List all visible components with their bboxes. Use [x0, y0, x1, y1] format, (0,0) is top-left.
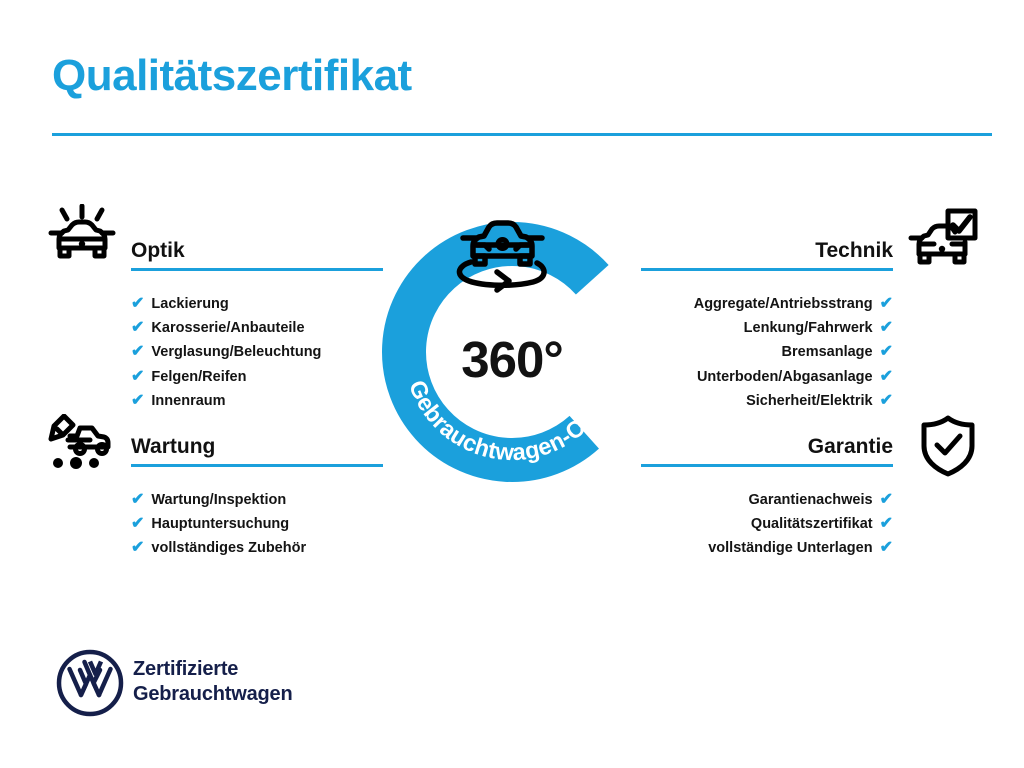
- check-icon: ✔: [880, 389, 893, 413]
- check-icon: ✔: [880, 365, 893, 389]
- section-technik-header: Technik: [641, 238, 893, 280]
- section-technik-title: Technik: [641, 238, 893, 264]
- check-icon: ✔: [880, 536, 893, 560]
- list-item-label: Qualitätszertifikat: [751, 512, 873, 536]
- vw-roundel-logo: [56, 649, 124, 722]
- list-item: Aggregate/Antriebsstrang✔: [641, 292, 893, 316]
- section-wartung-list: ✔Wartung/Inspektion ✔Hauptuntersuchung ✔…: [131, 488, 383, 561]
- list-item-label: Felgen/Reifen: [151, 365, 246, 389]
- check-icon: ✔: [131, 365, 144, 389]
- list-item: ✔Hauptuntersuchung: [131, 512, 383, 536]
- vw-wordmark-line1: Zertifizierte: [133, 657, 292, 682]
- list-item-label: Wartung/Inspektion: [151, 488, 286, 512]
- check-icon: ✔: [131, 389, 144, 413]
- list-item: ✔Verglasung/Beleuchtung: [131, 340, 383, 364]
- car-checkbox-icon: [908, 208, 978, 277]
- check-icon: ✔: [880, 340, 893, 364]
- section-garantie-list: Garantienachweis✔ Qualitätszertifikat✔ v…: [641, 488, 893, 561]
- vw-wordmark: Zertifizierte Gebrauchtwagen: [133, 657, 292, 707]
- list-item-label: Garantienachweis: [748, 488, 872, 512]
- list-item-label: Karosserie/Anbauteile: [151, 316, 304, 340]
- section-garantie-divider: [641, 464, 893, 467]
- list-item: ✔vollständiges Zubehör: [131, 536, 383, 560]
- list-item: Unterboden/Abgasanlage✔: [641, 365, 893, 389]
- list-item-label: Bremsanlage: [782, 340, 873, 364]
- section-technik: Technik Aggregate/Antriebsstrang✔ Lenkun…: [641, 238, 893, 413]
- shield-check-icon: [918, 414, 978, 483]
- section-optik-title: Optik: [131, 238, 383, 264]
- section-garantie: Garantie Garantienachweis✔ Qualitätszert…: [641, 434, 893, 561]
- section-wartung-divider: [131, 464, 383, 467]
- list-item-label: Sicherheit/Elektrik: [746, 389, 873, 413]
- list-item-label: vollständige Unterlagen: [708, 536, 872, 560]
- section-optik: Optik ✔Lackierung ✔Karosserie/Anbauteile…: [131, 238, 383, 413]
- section-garantie-header: Garantie: [641, 434, 893, 476]
- section-garantie-title: Garantie: [641, 434, 893, 460]
- list-item-label: Innenraum: [151, 389, 225, 413]
- badge-value: 360°: [376, 332, 648, 388]
- check-icon: ✔: [131, 512, 144, 536]
- section-technik-divider: [641, 268, 893, 271]
- list-item: Qualitätszertifikat✔: [641, 512, 893, 536]
- check-icon: ✔: [131, 316, 144, 340]
- list-item: vollständige Unterlagen✔: [641, 536, 893, 560]
- page-title: Qualitätszertifikat: [52, 54, 412, 98]
- section-technik-list: Aggregate/Antriebsstrang✔ Lenkung/Fahrwe…: [641, 292, 893, 413]
- check-icon: ✔: [131, 488, 144, 512]
- section-optik-list: ✔Lackierung ✔Karosserie/Anbauteile ✔Verg…: [131, 292, 383, 413]
- list-item-label: Lenkung/Fahrwerk: [744, 316, 873, 340]
- section-wartung-header: Wartung: [131, 434, 383, 476]
- check-icon: ✔: [131, 340, 144, 364]
- list-item: Garantienachweis✔: [641, 488, 893, 512]
- list-item: ✔Innenraum: [131, 389, 383, 413]
- vw-wordmark-line2: Gebrauchtwagen: [133, 682, 292, 707]
- check-icon: ✔: [880, 488, 893, 512]
- list-item-label: Aggregate/Antriebsstrang: [694, 292, 873, 316]
- check-icon: ✔: [880, 292, 893, 316]
- section-wartung: Wartung ✔Wartung/Inspektion ✔Hauptunters…: [131, 434, 383, 561]
- list-item: ✔Lackierung: [131, 292, 383, 316]
- section-wartung-title: Wartung: [131, 434, 383, 460]
- list-item: ✔Karosserie/Anbauteile: [131, 316, 383, 340]
- list-item: ✔Felgen/Reifen: [131, 365, 383, 389]
- list-item: Sicherheit/Elektrik✔: [641, 389, 893, 413]
- title-divider: [52, 133, 992, 136]
- check-icon: ✔: [880, 512, 893, 536]
- list-item: Lenkung/Fahrwerk✔: [641, 316, 893, 340]
- list-item-label: Verglasung/Beleuchtung: [151, 340, 321, 364]
- check-icon: ✔: [131, 292, 144, 316]
- check-icon: ✔: [131, 536, 144, 560]
- list-item-label: Hauptuntersuchung: [151, 512, 289, 536]
- car-shine-icon: [46, 204, 118, 279]
- list-item-label: Unterboden/Abgasanlage: [697, 365, 873, 389]
- list-item-label: Lackierung: [151, 292, 228, 316]
- list-item: ✔Wartung/Inspektion: [131, 488, 383, 512]
- list-item: Bremsanlage✔: [641, 340, 893, 364]
- pencil-car-service-icon: [46, 414, 118, 477]
- section-optik-divider: [131, 268, 383, 271]
- section-optik-header: Optik: [131, 238, 383, 280]
- check-icon: ✔: [880, 316, 893, 340]
- badge-360-check: Gebrauchtwagen-Check 360°: [376, 196, 648, 488]
- list-item-label: vollständiges Zubehör: [151, 536, 306, 560]
